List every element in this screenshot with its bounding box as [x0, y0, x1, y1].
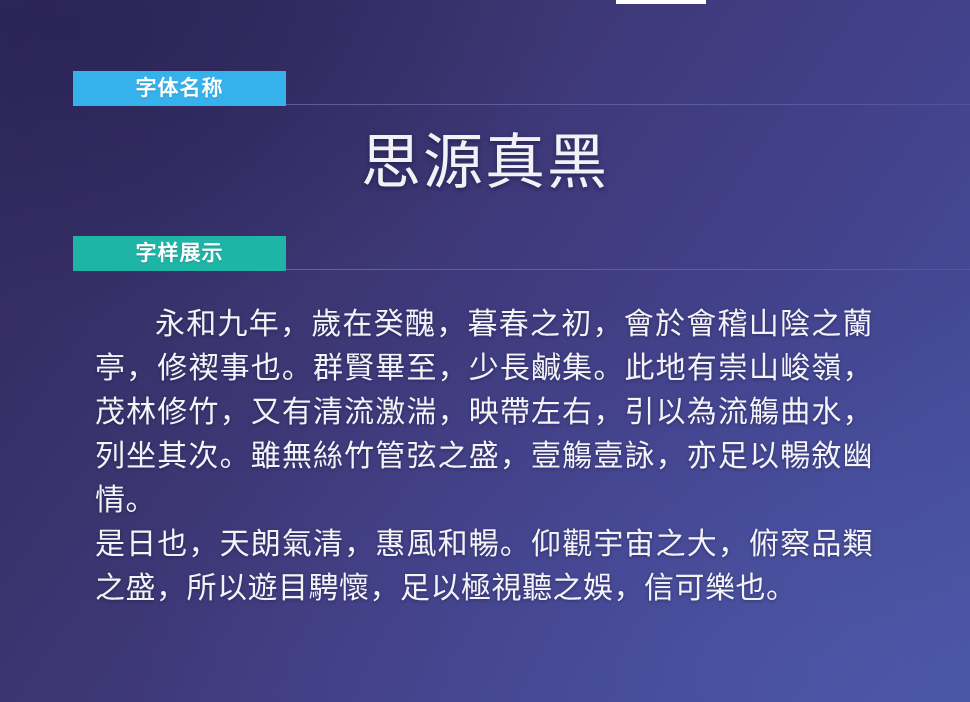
- font-name-badge-row: 字体名称: [0, 71, 970, 106]
- badge-font-sample-label: 字样展示: [136, 243, 224, 264]
- font-name-divider: [286, 104, 970, 105]
- sample-paragraphs: 永和九年，歲在癸醜，暮春之初，會於會稽山陰之蘭亭，修禊事也。群賢畢至，少長鹹集。…: [95, 303, 873, 611]
- font-sample-badge-row: 字样展示: [0, 236, 970, 271]
- badge-font-name-label: 字体名称: [136, 78, 224, 99]
- badge-font-sample: 字样展示: [73, 236, 286, 271]
- badge-font-name: 字体名称: [73, 71, 286, 106]
- font-title: 思源真黑: [361, 128, 609, 197]
- font-preview-slide: 字体名称 思源真黑 字样展示 永和九年，歲在癸醜，暮春之初，會於會稽山陰之蘭亭，…: [0, 0, 970, 702]
- font-sample-section: 字样展示: [0, 236, 970, 271]
- top-edge-strip: [616, 0, 706, 4]
- sample-paragraph: 永和九年，歲在癸醜，暮春之初，會於會稽山陰之蘭亭，修禊事也。群賢畢至，少長鹹集。…: [95, 303, 873, 523]
- font-sample-divider: [286, 269, 970, 270]
- font-name-section: 字体名称: [0, 71, 970, 106]
- font-sample-block: 永和九年，歲在癸醜，暮春之初，會於會稽山陰之蘭亭，修禊事也。群賢畢至，少長鹹集。…: [95, 303, 873, 611]
- font-title-block: 思源真黑: [0, 128, 970, 197]
- sample-paragraph: 是日也，天朗氣清，惠風和暢。仰觀宇宙之大，俯察品類之盛，所以遊目騁懷，足以極視聽…: [95, 523, 873, 611]
